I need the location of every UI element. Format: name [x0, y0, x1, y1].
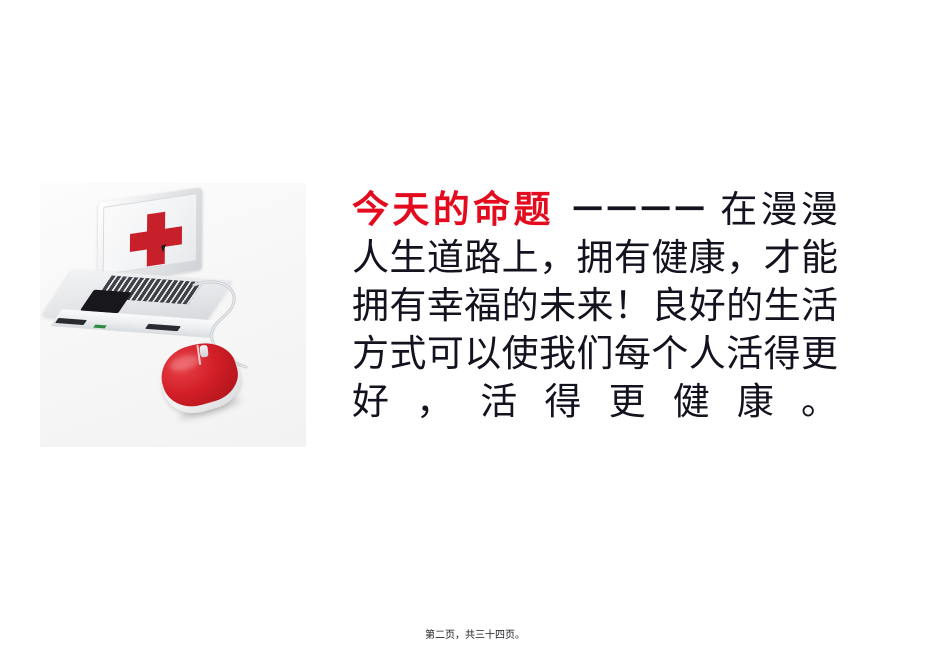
laptop-screen-bezel [103, 193, 198, 275]
today-topic-title: 今天的命题 [352, 188, 554, 231]
dash-space [705, 188, 720, 231]
mouse-highlight [168, 352, 201, 374]
mouse-scroll-wheel [199, 345, 208, 358]
page-indicator-text: 第二页，共三十四页。 [425, 630, 525, 641]
laptop-lid [98, 187, 203, 285]
laptop-mouse-photo [40, 183, 306, 447]
dash-separator: －－－－ [569, 188, 705, 231]
title-space [554, 188, 569, 231]
slide-canvas: 今天的命题 －－－－ 在漫漫人生道路上，拥有健康，才能拥有幸福的未来！良好的生活… [0, 0, 950, 651]
page-indicator-footer: 第二页，共三十四页。 [0, 626, 950, 641]
slide-body-text: 今天的命题 －－－－ 在漫漫人生道路上，拥有健康，才能拥有幸福的未来！良好的生活… [352, 186, 838, 426]
body-paragraph: 今天的命题 －－－－ 在漫漫人生道路上，拥有健康，才能拥有幸福的未来！良好的生活… [352, 186, 838, 426]
laptop-screen [104, 194, 197, 274]
cursor-arrow-icon [161, 244, 167, 252]
